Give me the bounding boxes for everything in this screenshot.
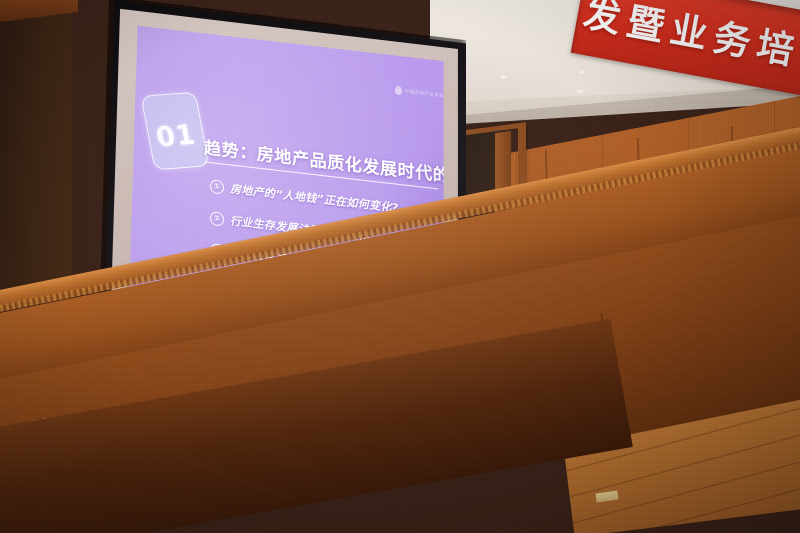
slide-logo-text: 中国房地产业协会 bbox=[405, 88, 444, 99]
slide-logo: 中国房地产业协会 bbox=[395, 85, 444, 100]
bullet-text: 房地产的“人地钱”正在如何变化? bbox=[230, 180, 398, 215]
leaf-mark-icon bbox=[395, 85, 402, 95]
ceiling-downlight bbox=[573, 89, 586, 94]
section-number: 01 bbox=[147, 119, 206, 154]
conference-room-photo: 发暨业务培训会 中国房地产业协会 01 趋势：房地产品质化发展时代的到来 bbox=[0, 0, 800, 533]
bullet-marker: ① bbox=[210, 179, 224, 195]
ceiling-downlight bbox=[575, 70, 588, 75]
slide-title: 趋势：房地产品质化发展时代的到来 bbox=[204, 133, 454, 187]
bullet-marker: ② bbox=[210, 211, 224, 227]
section-number-badge: 01 bbox=[140, 92, 209, 171]
ceiling-downlight bbox=[497, 75, 510, 80]
